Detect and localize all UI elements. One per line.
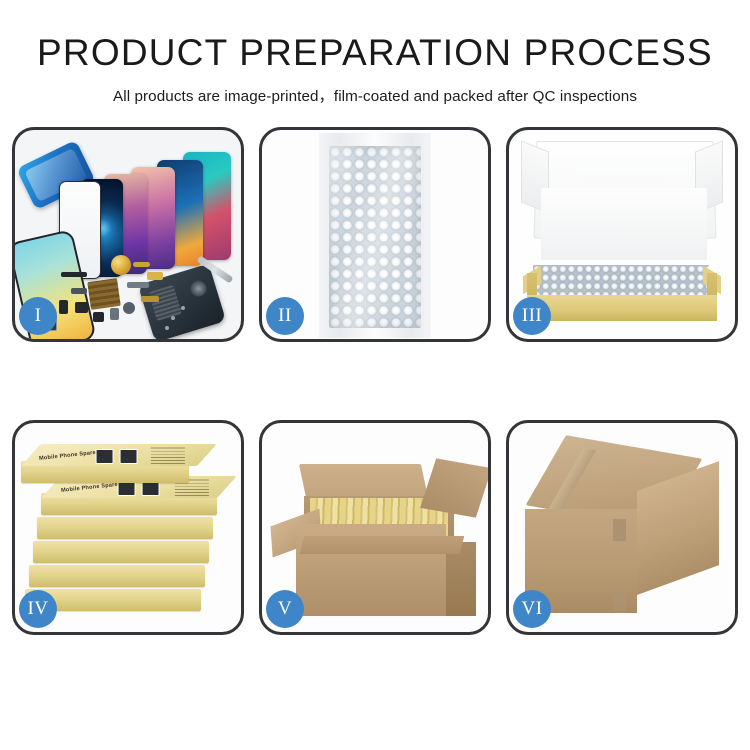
inner-bubble-layer	[533, 265, 709, 297]
step-badge-5: V	[266, 590, 304, 628]
step-badge-6: VI	[513, 590, 551, 628]
box-print-textlines	[151, 446, 185, 464]
packing-tape-upper	[613, 519, 626, 541]
step-badge-1: I	[19, 297, 57, 335]
process-step-card-4: Mobile Phone Spare Parts Mobile Phone Sp…	[12, 420, 244, 635]
box-print-screen-image	[120, 449, 138, 464]
stacked-box-top-back: Mobile Phone Spare Parts	[21, 461, 189, 483]
process-step-grid: I II III	[0, 127, 750, 635]
bracket-part	[71, 288, 87, 294]
button-part	[59, 300, 68, 314]
process-step-card-3: III	[506, 127, 738, 342]
header: PRODUCT PREPARATION PROCESS All products…	[0, 0, 750, 106]
earpiece-part	[61, 272, 87, 277]
shield-part	[110, 308, 119, 320]
step-badge-3: III	[513, 297, 551, 335]
speaker-part	[93, 312, 104, 322]
bubble-wrap-bubbles	[329, 146, 421, 328]
step-badge-4: IV	[19, 590, 57, 628]
step-badge-2: II	[266, 297, 304, 335]
stacked-box	[37, 517, 213, 539]
box-print-screen-image	[96, 449, 114, 464]
screw-icon	[171, 316, 175, 320]
stacked-box	[29, 565, 205, 587]
packing-tape-lower	[613, 591, 626, 611]
flex-cable-part	[133, 262, 150, 267]
process-step-card-6: VI	[506, 420, 738, 635]
phone-fan-group	[71, 150, 241, 270]
ribbon-part	[141, 296, 159, 302]
process-step-card-2: II	[259, 127, 491, 342]
chip-grid-part	[87, 278, 121, 310]
page-subtitle: All products are image-printed，film-coat…	[0, 84, 750, 106]
carton-flap-front	[300, 536, 464, 554]
carton-flap-right	[420, 458, 488, 517]
foam-insert	[541, 188, 707, 260]
page-title: PRODUCT PREPARATION PROCESS	[0, 34, 750, 73]
box-print-screen-image	[142, 481, 160, 496]
process-step-card-1: I	[12, 127, 244, 342]
box-print-screen-image	[118, 481, 136, 496]
speaker-coil-part	[111, 255, 131, 275]
screw-icon	[181, 306, 185, 310]
process-step-card-5: V	[259, 420, 491, 635]
antenna-part	[127, 282, 149, 288]
stacked-box	[33, 541, 209, 563]
stacked-box-lid-back: Mobile Phone Spare Parts	[21, 444, 217, 466]
stacked-box-top-front: Mobile Phone Spare Parts	[41, 493, 217, 515]
camera-module-part	[75, 302, 88, 313]
connector-part	[147, 272, 163, 280]
box-tray-front	[527, 295, 717, 321]
screw-icon	[165, 326, 169, 330]
vibrator-part	[123, 302, 135, 314]
